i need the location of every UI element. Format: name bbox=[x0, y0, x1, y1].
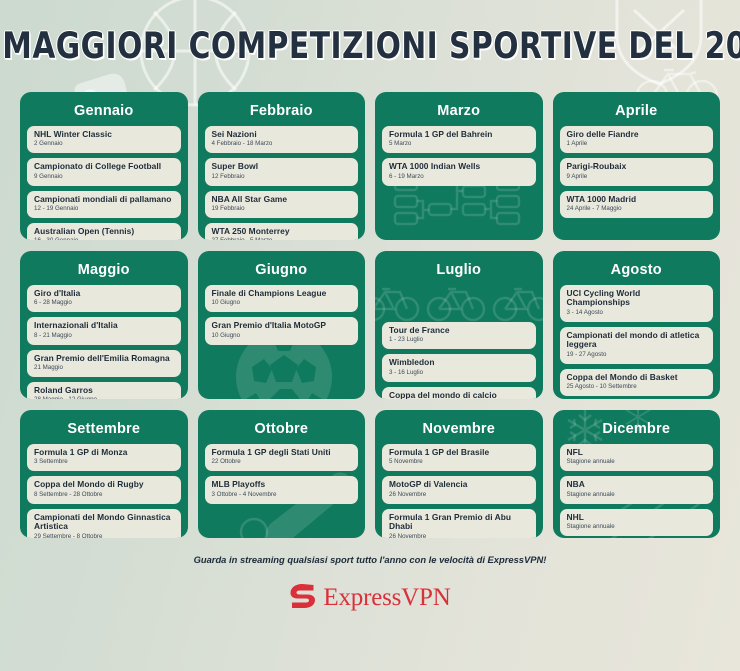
event-item[interactable]: Super Bowl 12 Febbraio bbox=[205, 158, 359, 185]
event-name: Campionato di College Football bbox=[34, 162, 174, 171]
event-item[interactable]: Gran Premio d'Italia MotoGP 10 Giugno bbox=[205, 317, 359, 344]
event-item[interactable]: NHL Stagione annuale bbox=[560, 509, 714, 536]
month-title: Luglio bbox=[382, 258, 536, 285]
event-list: Finale di Champions League 10 Giugno Gra… bbox=[205, 285, 359, 345]
event-date: 12 - 19 Gennaio bbox=[34, 206, 174, 213]
month-title: Agosto bbox=[560, 258, 714, 285]
event-item[interactable]: Coppa del mondo di calcio femminile 20 L… bbox=[382, 387, 536, 399]
event-item[interactable]: Gran Premio dell'Emilia Romagna 21 Maggi… bbox=[27, 350, 181, 377]
event-item[interactable]: Sei Nazioni 4 Febbraio - 18 Marzo bbox=[205, 126, 359, 153]
event-name: NHL Winter Classic bbox=[34, 130, 174, 139]
event-item[interactable]: MotoGP di Valencia 26 Novembre bbox=[382, 476, 536, 503]
event-name: MLB Playoffs bbox=[212, 480, 352, 489]
event-name: Formula 1 GP del Bahrein bbox=[389, 130, 529, 139]
event-name: Gran Premio dell'Emilia Romagna bbox=[34, 354, 174, 363]
event-item[interactable]: Campionati del mondo di atletica leggera… bbox=[560, 327, 714, 364]
event-date: 6 - 19 Marzo bbox=[389, 174, 529, 181]
footer: Guarda in streaming qualsiasi sport tutt… bbox=[20, 538, 720, 671]
month-card-ottobre[interactable]: Ottobre Formula 1 GP degli Stati Uniti 2… bbox=[198, 410, 366, 538]
event-date: 12 Febbraio bbox=[212, 174, 352, 181]
month-title: Marzo bbox=[382, 99, 536, 126]
event-date: 21 Maggio bbox=[34, 365, 174, 372]
event-list: NHL Winter Classic 2 Gennaio Campionato … bbox=[27, 126, 181, 240]
event-name: Giro delle Fiandre bbox=[567, 130, 707, 139]
event-date: 9 Aprile bbox=[567, 174, 707, 181]
month-card-giugno[interactable]: Giugno Finale di Champions League 10 Giu… bbox=[198, 251, 366, 399]
event-item[interactable]: Giro d'Italia 6 - 28 Maggio bbox=[27, 285, 181, 312]
event-list: UCI Cycling World Championships 3 - 14 A… bbox=[560, 285, 714, 399]
event-name: WTA 250 Monterrey bbox=[212, 227, 352, 236]
event-list: Sei Nazioni 4 Febbraio - 18 Marzo Super … bbox=[205, 126, 359, 240]
event-list: Formula 1 GP di Monza 3 Settembre Coppa … bbox=[27, 444, 181, 538]
infographic-page: LE MAGGIORI COMPETIZIONI SPORTIVE DEL 20… bbox=[0, 0, 740, 671]
event-item[interactable]: NHL Winter Classic 2 Gennaio bbox=[27, 126, 181, 153]
event-name: Super Bowl bbox=[212, 162, 352, 171]
event-item[interactable]: Coppa del Mondo di Basket 25 Agosto - 10… bbox=[560, 369, 714, 396]
event-name: NFL bbox=[567, 448, 707, 457]
page-title: LE MAGGIORI COMPETIZIONI SPORTIVE DEL 20… bbox=[0, 25, 740, 68]
title-area: LE MAGGIORI COMPETIZIONI SPORTIVE DEL 20… bbox=[20, 0, 720, 92]
event-date: 2 Gennaio bbox=[34, 141, 174, 148]
month-title: Febbraio bbox=[205, 99, 359, 126]
event-list: Tour de France 1 - 23 Luglio Wimbledon 3… bbox=[382, 322, 536, 399]
month-title: Maggio bbox=[27, 258, 181, 285]
month-title: Ottobre bbox=[205, 417, 359, 444]
event-name: Giro d'Italia bbox=[34, 289, 174, 298]
event-date: 3 - 14 Agosto bbox=[567, 310, 707, 317]
event-name: Wimbledon bbox=[389, 358, 529, 367]
event-item[interactable]: WTA 1000 Indian Wells 6 - 19 Marzo bbox=[382, 158, 536, 185]
event-date: 10 Giugno bbox=[212, 333, 352, 340]
event-name: Sei Nazioni bbox=[212, 130, 352, 139]
event-date: 26 Novembre bbox=[389, 492, 529, 499]
event-date: 25 Agosto - 10 Settembre bbox=[567, 384, 707, 391]
event-name: Formula 1 Gran Premio di Abu Dhabi bbox=[389, 513, 529, 532]
event-item[interactable]: Internazionali d'Italia 8 - 21 Maggio bbox=[27, 317, 181, 344]
event-date: 28 Maggio - 12 Giugno bbox=[34, 397, 174, 399]
event-date: 4 Febbraio - 18 Marzo bbox=[212, 141, 352, 148]
event-date: 16 - 30 Gennaio bbox=[34, 238, 174, 240]
month-card-gennaio[interactable]: Gennaio NHL Winter Classic 2 Gennaio Cam… bbox=[20, 92, 188, 240]
expressvpn-wordmark: ExpressVPN bbox=[323, 585, 450, 610]
month-card-settembre[interactable]: Settembre Formula 1 GP di Monza 3 Settem… bbox=[20, 410, 188, 538]
event-item[interactable]: WTA 1000 Madrid 24 Aprile - 7 Maggio bbox=[560, 191, 714, 218]
event-name: Coppa del Mondo di Basket bbox=[567, 373, 707, 382]
event-date: 27 Febbraio - 5 Marzo bbox=[212, 238, 352, 240]
event-date: 5 Novembre bbox=[389, 459, 529, 466]
event-name: Campionati mondiali di pallamano bbox=[34, 195, 174, 204]
event-item[interactable]: Australian Open (Tennis) 16 - 30 Gennaio bbox=[27, 223, 181, 240]
month-title: Novembre bbox=[382, 417, 536, 444]
event-name: Tour de France bbox=[389, 326, 529, 335]
event-item[interactable]: Formula 1 Gran Premio di Abu Dhabi 26 No… bbox=[382, 509, 536, 538]
event-item[interactable]: Giro delle Fiandre 1 Aprile bbox=[560, 126, 714, 153]
event-name: Formula 1 GP di Monza bbox=[34, 448, 174, 457]
event-name: Campionati del mondo di atletica leggera bbox=[567, 331, 707, 350]
event-date: 10 Giugno bbox=[212, 300, 352, 307]
month-card-luglio[interactable]: Luglio Tour de France 1 - 23 Luglio Wimb… bbox=[375, 251, 543, 399]
month-card-marzo[interactable]: Marzo Formula 1 GP del Bahrein 5 Marzo W… bbox=[375, 92, 543, 240]
event-list: Giro delle Fiandre 1 Aprile Parigi-Rouba… bbox=[560, 126, 714, 218]
event-item[interactable]: Campionati del Mondo Ginnastica Artistic… bbox=[27, 509, 181, 538]
event-name: Australian Open (Tennis) bbox=[34, 227, 174, 236]
month-card-novembre[interactable]: Novembre Formula 1 GP del Brasile 5 Nove… bbox=[375, 410, 543, 538]
month-card-aprile[interactable]: Aprile Giro delle Fiandre 1 Aprile Parig… bbox=[553, 92, 721, 240]
event-list: Formula 1 GP del Brasile 5 Novembre Moto… bbox=[382, 444, 536, 538]
event-name: NBA All Star Game bbox=[212, 195, 352, 204]
event-item[interactable]: Formula 1 GP del Brasile 5 Novembre bbox=[382, 444, 536, 471]
event-date: 9 Gennaio bbox=[34, 174, 174, 181]
expressvpn-logo[interactable]: ExpressVPN bbox=[289, 583, 450, 612]
event-date: 3 Settembre bbox=[34, 459, 174, 466]
event-item[interactable]: Tour de France 1 - 23 Luglio bbox=[382, 322, 536, 349]
event-date: 8 - 21 Maggio bbox=[34, 333, 174, 340]
expressvpn-logo-icon bbox=[289, 583, 316, 612]
event-name: WTA 1000 Indian Wells bbox=[389, 162, 529, 171]
months-grid: Gennaio NHL Winter Classic 2 Gennaio Cam… bbox=[20, 92, 720, 538]
event-item[interactable]: Finale di Champions League 10 Giugno bbox=[205, 285, 359, 312]
month-title: Settembre bbox=[27, 417, 181, 444]
event-item[interactable]: Roland Garros 28 Maggio - 12 Giugno bbox=[27, 382, 181, 399]
event-item[interactable]: Formula 1 GP del Bahrein 5 Marzo bbox=[382, 126, 536, 153]
month-card-agosto[interactable]: Agosto UCI Cycling World Championships 3… bbox=[553, 251, 721, 399]
event-item[interactable]: Parigi-Roubaix 9 Aprile bbox=[560, 158, 714, 185]
event-name: Gran Premio d'Italia MotoGP bbox=[212, 321, 352, 330]
event-list: Formula 1 GP del Bahrein 5 Marzo WTA 100… bbox=[382, 126, 536, 186]
event-item[interactable]: Campionato di College Football 9 Gennaio bbox=[27, 158, 181, 185]
month-title: Giugno bbox=[205, 258, 359, 285]
event-list: NFL Stagione annuale NBA Stagione annual… bbox=[560, 444, 714, 536]
event-list: Formula 1 GP degli Stati Uniti 22 Ottobr… bbox=[205, 444, 359, 504]
month-title: Aprile bbox=[560, 99, 714, 126]
event-name: Finale di Champions League bbox=[212, 289, 352, 298]
event-name: Coppa del Mondo di Rugby bbox=[34, 480, 174, 489]
event-item[interactable]: Formula 1 GP di Monza 3 Settembre bbox=[27, 444, 181, 471]
event-name: UCI Cycling World Championships bbox=[567, 289, 707, 308]
event-date: 26 Novembre bbox=[389, 534, 529, 539]
event-item[interactable]: WTA 250 Monterrey 27 Febbraio - 5 Marzo bbox=[205, 223, 359, 240]
event-item[interactable]: Campionati mondiali di pallamano 12 - 19… bbox=[27, 191, 181, 218]
event-list: Giro d'Italia 6 - 28 Maggio Internaziona… bbox=[27, 285, 181, 399]
event-date: 19 Febbraio bbox=[212, 206, 352, 213]
bicycle-row-deco-icon bbox=[375, 279, 543, 325]
event-item[interactable]: NBA Stagione annuale bbox=[560, 476, 714, 503]
event-date: 8 Settembre - 28 Ottobre bbox=[34, 492, 174, 499]
event-name: WTA 1000 Madrid bbox=[567, 195, 707, 204]
event-date: 29 Settembre - 8 Ottobre bbox=[34, 534, 174, 539]
event-date: 22 Ottobre bbox=[212, 459, 352, 466]
event-date: 3 Ottobre - 4 Novembre bbox=[212, 492, 352, 499]
event-name: Roland Garros bbox=[34, 386, 174, 395]
month-card-febbraio[interactable]: Febbraio Sei Nazioni 4 Febbraio - 18 Mar… bbox=[198, 92, 366, 240]
month-title: Gennaio bbox=[27, 99, 181, 126]
event-date: 19 - 27 Agosto bbox=[567, 352, 707, 359]
event-item[interactable]: UCI Cycling World Championships 3 - 14 A… bbox=[560, 285, 714, 322]
event-date: 6 - 28 Maggio bbox=[34, 300, 174, 307]
event-name: MotoGP di Valencia bbox=[389, 480, 529, 489]
event-date: 3 - 16 Luglio bbox=[389, 370, 529, 377]
event-date: Stagione annuale bbox=[567, 459, 707, 466]
event-name: Internazionali d'Italia bbox=[34, 321, 174, 330]
event-item[interactable]: Wimbledon 3 - 16 Luglio bbox=[382, 354, 536, 381]
event-name: Formula 1 GP del Brasile bbox=[389, 448, 529, 457]
event-date: 1 Aprile bbox=[567, 141, 707, 148]
event-name: Coppa del mondo di calcio femminile bbox=[389, 391, 529, 399]
event-name: Campionati del Mondo Ginnastica Artistic… bbox=[34, 513, 174, 532]
event-item[interactable]: Formula 1 GP degli Stati Uniti 22 Ottobr… bbox=[205, 444, 359, 471]
event-name: Formula 1 GP degli Stati Uniti bbox=[212, 448, 352, 457]
event-item[interactable]: MLB Playoffs 3 Ottobre - 4 Novembre bbox=[205, 476, 359, 503]
event-name: NBA bbox=[567, 480, 707, 489]
month-card-maggio[interactable]: Maggio Giro d'Italia 6 - 28 Maggio Inter… bbox=[20, 251, 188, 399]
event-date: 1 - 23 Luglio bbox=[389, 337, 529, 344]
event-date: 24 Aprile - 7 Maggio bbox=[567, 206, 707, 213]
event-date: 5 Marzo bbox=[389, 141, 529, 148]
event-item[interactable]: NFL Stagione annuale bbox=[560, 444, 714, 471]
month-title: Dicembre bbox=[560, 417, 714, 444]
event-name: NHL bbox=[567, 513, 707, 522]
event-date: Stagione annuale bbox=[567, 492, 707, 499]
event-item[interactable]: Coppa del Mondo di Rugby 8 Settembre - 2… bbox=[27, 476, 181, 503]
event-date: Stagione annuale bbox=[567, 524, 707, 531]
footer-tagline: Guarda in streaming qualsiasi sport tutt… bbox=[194, 554, 547, 565]
month-card-dicembre[interactable]: Dicembre NFL Stagione annuale NBA Stagio… bbox=[553, 410, 721, 538]
event-name: Parigi-Roubaix bbox=[567, 162, 707, 171]
event-item[interactable]: NBA All Star Game 19 Febbraio bbox=[205, 191, 359, 218]
